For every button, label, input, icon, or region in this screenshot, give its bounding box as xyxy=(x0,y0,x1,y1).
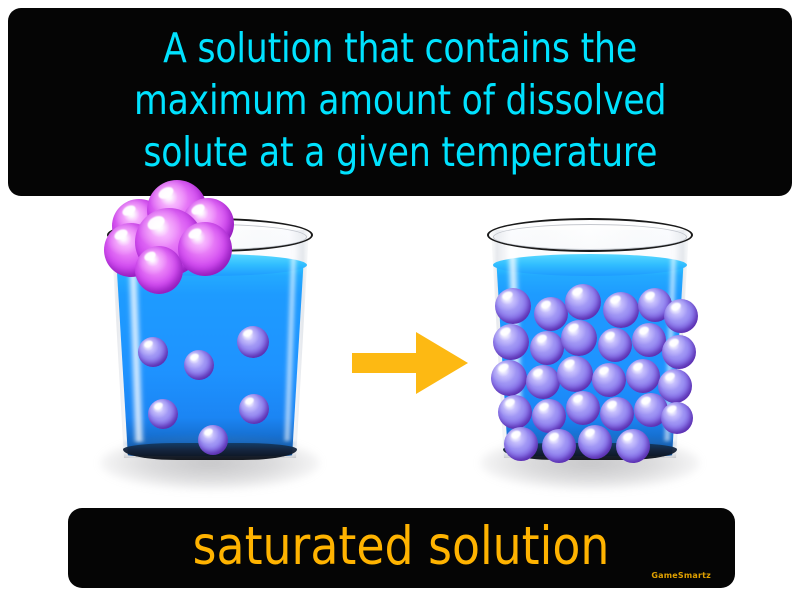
undissolved-solute-sphere xyxy=(178,222,232,276)
right-arrow-icon xyxy=(352,330,468,396)
saturated-beaker xyxy=(475,202,705,492)
unsaturated-beaker xyxy=(95,202,325,492)
dissolved-solute-sphere xyxy=(542,429,576,463)
dissolved-solute-sphere xyxy=(498,395,532,429)
dissolved-solute-sphere xyxy=(198,425,228,455)
dissolved-solute-sphere xyxy=(662,335,696,369)
dissolved-solute-sphere xyxy=(592,363,626,397)
dissolved-solute-sphere xyxy=(493,324,529,360)
beaker-rim-inner xyxy=(493,224,687,250)
dissolved-solute-sphere xyxy=(565,284,601,320)
dissolved-solute-sphere xyxy=(598,328,632,362)
liquid-surface xyxy=(493,254,687,276)
term-banner: saturated solution GameSmartz xyxy=(68,508,735,588)
dissolved-solute-sphere xyxy=(603,292,639,328)
dissolved-solute-sphere xyxy=(184,350,214,380)
dissolved-solute-sphere xyxy=(530,331,564,365)
dissolved-solute-sphere xyxy=(532,399,566,433)
definition-line-2: maximum amount of dissolved xyxy=(134,74,666,126)
dissolved-solute-sphere xyxy=(557,356,593,392)
dissolved-solute-sphere xyxy=(504,427,538,461)
undissolved-solute-sphere xyxy=(135,246,183,294)
dissolved-solute-sphere xyxy=(600,397,634,431)
dissolved-solute-sphere xyxy=(148,399,178,429)
dissolved-solute-sphere xyxy=(632,323,666,357)
dissolved-solute-sphere xyxy=(491,360,527,396)
dissolved-solute-sphere xyxy=(616,429,650,463)
dissolved-solute-sphere xyxy=(138,337,168,367)
dissolved-solute-sphere xyxy=(495,288,531,324)
dissolved-solute-sphere xyxy=(526,365,560,399)
definition-line-1: A solution that contains the xyxy=(163,22,637,74)
flashcard: A solution that contains the maximum amo… xyxy=(0,0,800,600)
term-label: saturated solution xyxy=(193,519,610,575)
dissolved-solute-sphere xyxy=(566,391,600,425)
dissolved-solute-sphere xyxy=(239,394,269,424)
dissolved-solute-sphere xyxy=(626,359,660,393)
dissolved-solute-sphere xyxy=(664,299,698,333)
definition-banner: A solution that contains the maximum amo… xyxy=(8,8,792,196)
dissolved-solute-sphere xyxy=(578,425,612,459)
definition-line-3: solute at a given temperature xyxy=(143,126,657,178)
dissolved-solute-sphere xyxy=(561,320,597,356)
illustration-area xyxy=(0,196,800,502)
dissolved-solute-sphere xyxy=(237,326,269,358)
dissolved-solute-sphere xyxy=(534,297,568,331)
watermark-label: GameSmartz xyxy=(651,571,711,580)
dissolved-solute-sphere xyxy=(661,402,693,434)
